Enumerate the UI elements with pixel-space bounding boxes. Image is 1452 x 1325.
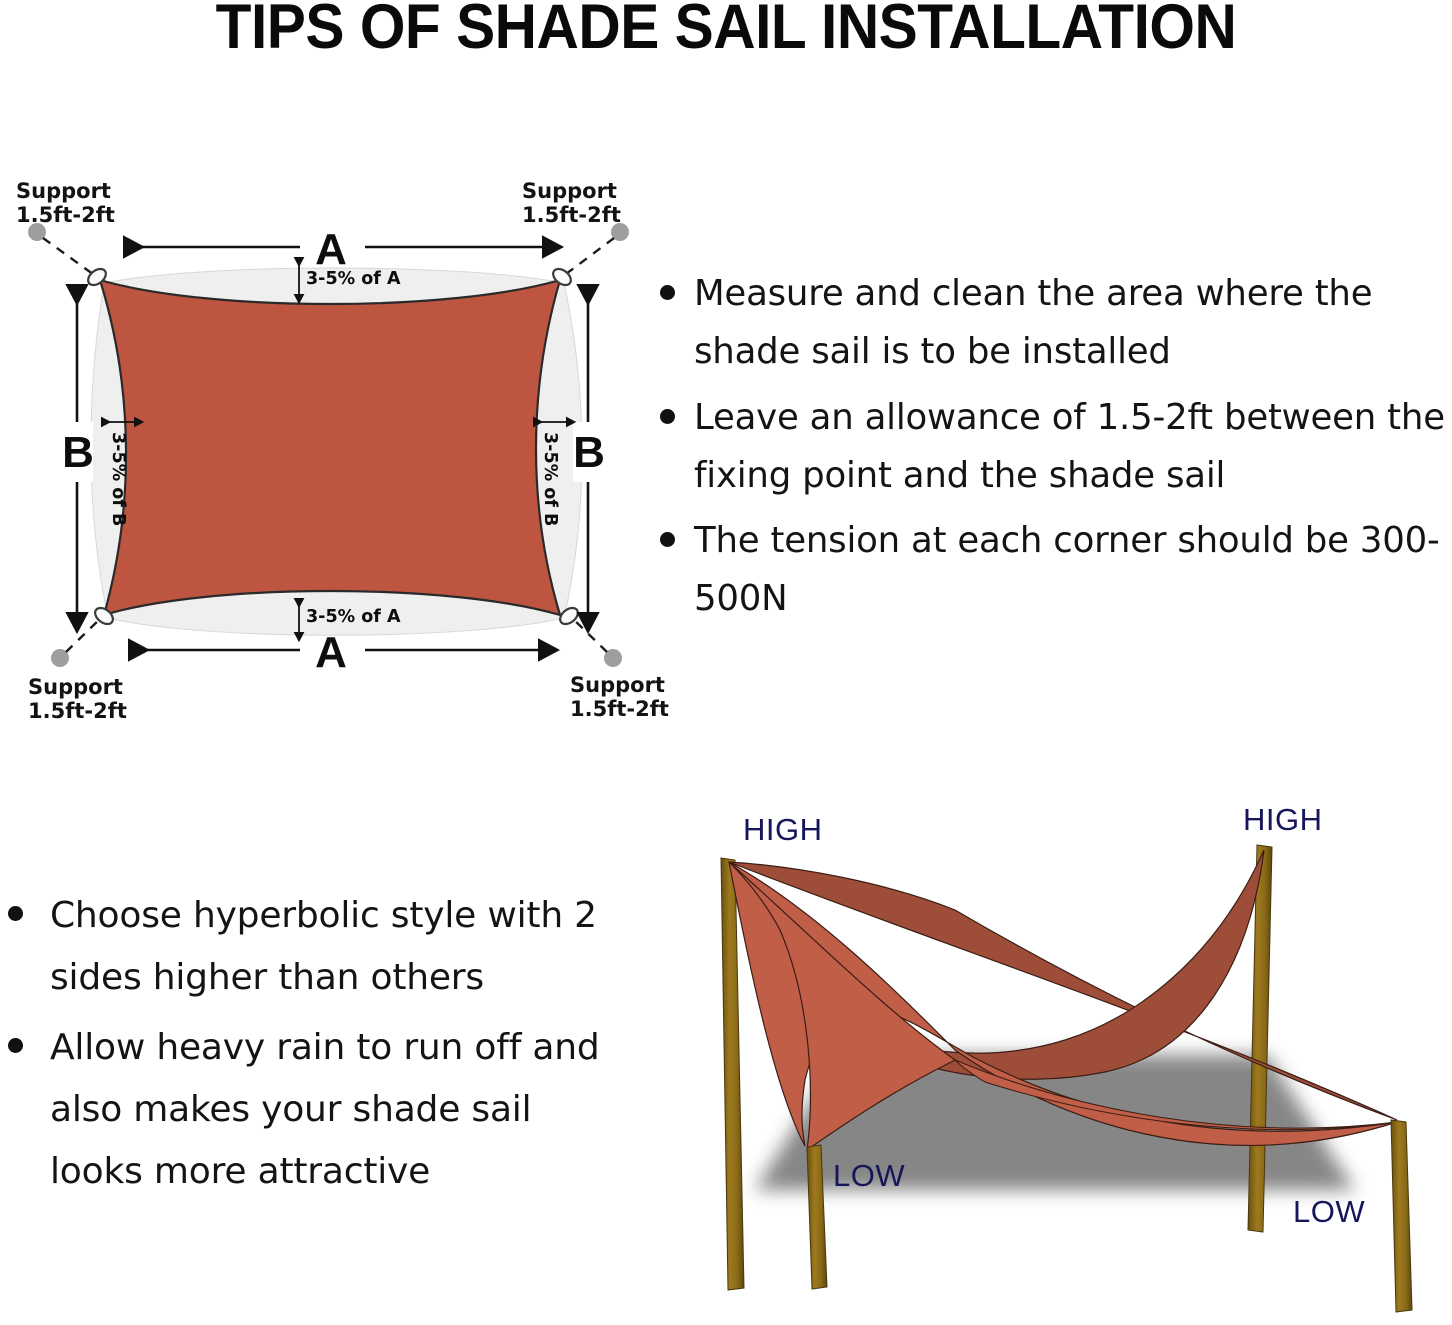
list-item-text: Choose hyperbolic style with 2 sides hig… (50, 895, 597, 998)
dimension-A-top: A (123, 225, 542, 274)
list-item: Measure and clean the area where the sha… (648, 265, 1452, 381)
post-low-right (1391, 1120, 1412, 1312)
support-label-top-right: Support 1.5ft-2ft (522, 179, 621, 227)
list-item-text: Leave an allowance of 1.5-2ft between th… (694, 397, 1445, 496)
support-label-bottom-left: Support 1.5ft-2ft (28, 675, 127, 723)
dimension-A-bottom: A (128, 628, 538, 677)
rectangle-sail-diagram: A 3-5% of A A 3-5% of A B 3-5% of B (0, 160, 660, 730)
list-item: Choose hyperbolic style with 2 sides hig… (0, 885, 620, 1009)
bullet-dot-icon (660, 409, 675, 424)
label-low-right: LOW (1293, 1194, 1365, 1229)
dim-label-b-right: B (573, 428, 605, 477)
support-top-left-line1: Support (16, 179, 111, 203)
tolerance-a-bottom-label: 3-5% of A (306, 607, 401, 627)
installation-tips-list: Measure and clean the area where the sha… (648, 265, 1452, 665)
label-low-left: LOW (833, 1158, 905, 1193)
support-label-bottom-right: Support 1.5ft-2ft (570, 673, 669, 721)
shade-sail-shape (100, 280, 560, 615)
support-top-left-line2: 1.5ft-2ft (16, 203, 115, 227)
hyperbolic-style-tips-list: Choose hyperbolic style with 2 sides hig… (0, 885, 620, 1225)
dim-label-a-bottom: A (315, 628, 347, 677)
style-bullet-list: Choose hyperbolic style with 2 sides hig… (0, 885, 620, 1203)
support-line-top-left (43, 238, 97, 277)
page-title: TIPS OF SHADE SAIL INSTALLATION (51, 0, 1401, 59)
bullet-dot-icon (8, 906, 23, 921)
dimension-B-left: B (62, 284, 94, 612)
support-bottom-left-line2: 1.5ft-2ft (28, 699, 127, 723)
support-line-top-right (562, 238, 614, 277)
tolerance-b-right-label: 3-5% of B (540, 432, 560, 526)
support-bottom-right-line1: Support (570, 673, 665, 697)
tips-bullet-list: Measure and clean the area where the sha… (648, 265, 1452, 628)
rectangle-sail-svg: A 3-5% of A A 3-5% of A B 3-5% of B (0, 160, 660, 730)
bullet-dot-icon (660, 285, 675, 300)
support-top-right-line2: 1.5ft-2ft (522, 203, 621, 227)
list-item-text: Allow heavy rain to run off and also mak… (50, 1027, 600, 1192)
dim-label-b-left: B (62, 428, 94, 477)
bullet-dot-icon (660, 532, 675, 547)
label-high-right: HIGH (1243, 802, 1323, 837)
tolerance-b-left-label: 3-5% of B (108, 432, 128, 526)
list-item: The tension at each corner should be 300… (648, 512, 1452, 628)
list-item-text: Measure and clean the area where the sha… (694, 273, 1372, 372)
dimension-B-right: B (573, 284, 605, 612)
list-item: Leave an allowance of 1.5-2ft between th… (648, 389, 1452, 505)
hyperbolic-sail-svg: HIGH HIGH LOW LOW (655, 790, 1452, 1325)
dim-label-a-top: A (315, 225, 347, 274)
support-bottom-right-line2: 1.5ft-2ft (570, 697, 669, 721)
bullet-dot-icon (8, 1038, 23, 1053)
support-top-right-line1: Support (522, 179, 617, 203)
tolerance-a-top-label: 3-5% of A (306, 269, 401, 289)
support-bottom-left-line1: Support (28, 675, 123, 699)
label-high-left: HIGH (743, 812, 823, 847)
list-item-text: The tension at each corner should be 300… (694, 520, 1440, 619)
list-item: Allow heavy rain to run off and also mak… (0, 1017, 620, 1203)
support-label-top-left: Support 1.5ft-2ft (16, 179, 115, 227)
hyperbolic-sail-diagram: HIGH HIGH LOW LOW (655, 790, 1452, 1325)
